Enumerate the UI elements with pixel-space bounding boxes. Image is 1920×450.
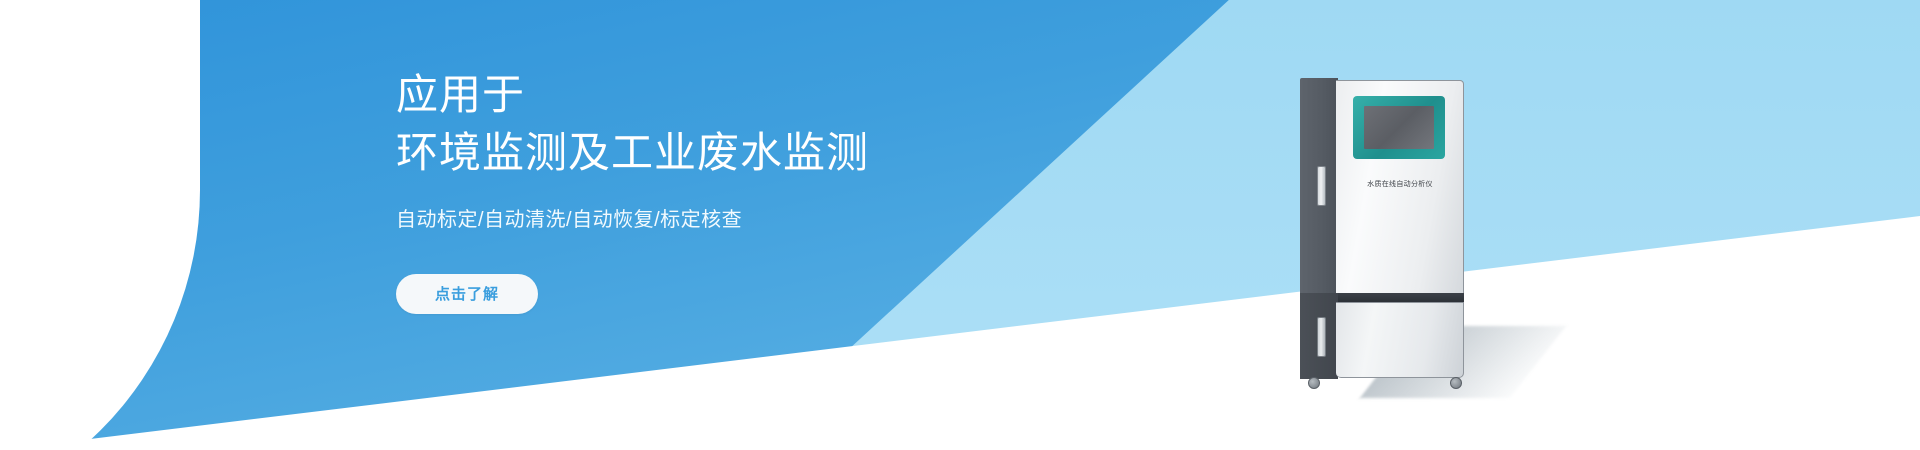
banner-headline: 应用于 环境监测及工业废水监测 [396, 0, 1156, 182]
device-brand-label: 水质在线自动分析仪 [1338, 179, 1462, 189]
device-screen-bezel [1353, 96, 1445, 159]
hero-banner: 应用于 环境监测及工业废水监测 自动标定/自动清洗/自动恢复/标定核查 点击了解… [0, 0, 1920, 450]
learn-more-button[interactable]: 点击了解 [396, 274, 538, 314]
headline-line-1: 应用于 [396, 66, 1156, 124]
headline-line-2: 环境监测及工业废水监测 [396, 124, 1156, 182]
banner-content: 应用于 环境监测及工业废水监测 自动标定/自动清洗/自动恢复/标定核查 点击了解 [396, 0, 1156, 450]
device-castor-left [1308, 377, 1320, 389]
banner-subtitle: 自动标定/自动清洗/自动恢复/标定核查 [396, 182, 1156, 234]
device-handle-upper [1317, 166, 1326, 206]
device-handle-lower [1317, 317, 1326, 357]
device-castor-right [1450, 377, 1462, 389]
device-screen [1364, 106, 1434, 149]
product-image-water-quality-analyzer: 水质在线自动分析仪 [1300, 78, 1490, 388]
device-lower-door [1336, 302, 1464, 378]
